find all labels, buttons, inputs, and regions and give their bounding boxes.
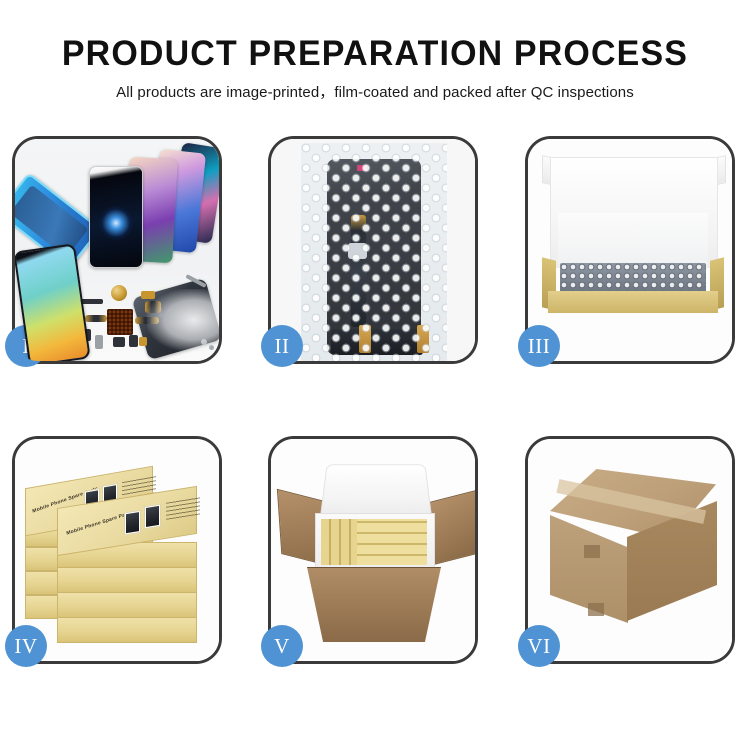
part-tool-1 (185, 274, 206, 288)
tray-front-wall (548, 291, 718, 313)
step-badge-6: VI (518, 625, 560, 667)
page-header: PRODUCT PREPARATION PROCESS All products… (0, 0, 750, 102)
bubble-wrapped-content (560, 263, 706, 293)
step-3-image (528, 139, 732, 361)
step-badge-2: II (261, 325, 303, 367)
page-subtitle: All products are image-printed，film-coat… (0, 74, 750, 102)
step-1-image (15, 139, 219, 361)
part-chip-grid (107, 309, 133, 335)
process-step-2[interactable]: II (268, 136, 478, 364)
process-step-1[interactable]: I (12, 136, 222, 364)
box-thumbnail-2 (144, 504, 161, 530)
part-small-5 (139, 337, 147, 346)
step-2-image (271, 139, 475, 361)
foam-sheet (558, 213, 708, 267)
process-step-3[interactable]: III (525, 136, 735, 364)
part-small-3 (113, 337, 125, 347)
process-row-2: Mobile Phone Spare Parts Mobile Phone Sp… (0, 436, 750, 666)
bubble-texture (301, 143, 447, 361)
panel-haze (147, 289, 219, 351)
part-small-2 (95, 335, 103, 349)
stacked-box-front-5 (57, 617, 197, 643)
page-title: PRODUCT PREPARATION PROCESS (11, 0, 739, 74)
carton-tab-lower (588, 603, 604, 616)
stacked-box-front-4 (57, 592, 197, 618)
process-step-6[interactable]: VI (525, 436, 735, 664)
step-badge-5: V (261, 625, 303, 667)
part-speaker-coil (111, 285, 127, 301)
process-row-1: I II (0, 136, 750, 366)
step-4-image: Mobile Phone Spare Parts Mobile Phone Sp… (15, 439, 219, 661)
carton-tab-upper (584, 545, 600, 558)
stacked-box-front-3 (57, 567, 197, 593)
bubble-wrap-bag (301, 143, 447, 361)
process-step-4[interactable]: Mobile Phone Spare Parts Mobile Phone Sp… (12, 436, 222, 664)
carton-body (307, 567, 441, 642)
step-6-image (528, 439, 732, 661)
step-badge-3: III (518, 325, 560, 367)
part-flex-2 (85, 315, 107, 322)
yellow-boxes-row-2 (357, 519, 427, 565)
process-step-5[interactable]: V (268, 436, 478, 664)
process-grid: I II (0, 136, 750, 736)
part-small-4 (129, 335, 138, 347)
step-5-image (271, 439, 475, 661)
step-badge-4: IV (5, 625, 47, 667)
box-thumbnail-1 (124, 510, 141, 536)
